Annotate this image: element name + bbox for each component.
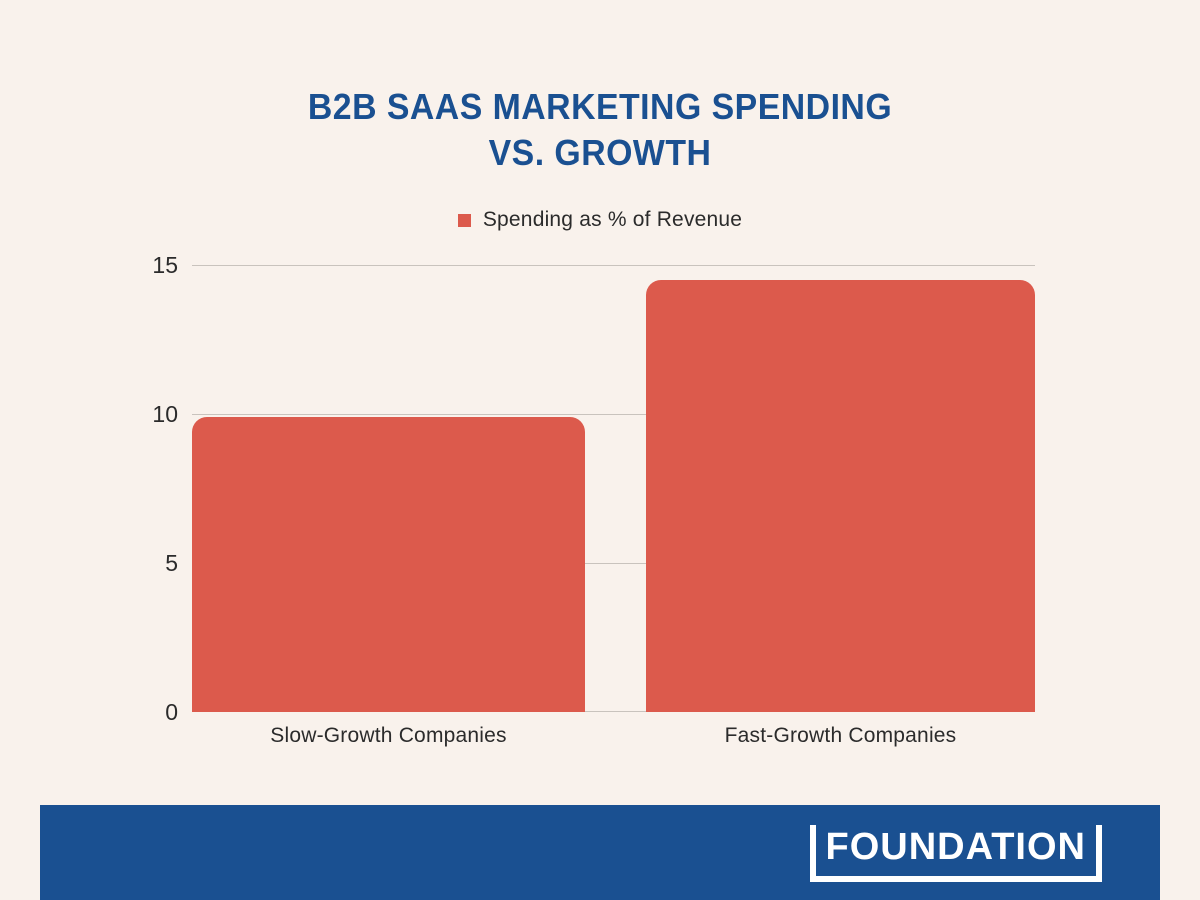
y-axis-tick-10: 10 (58, 401, 178, 428)
y-axis-tick-0: 0 (58, 699, 178, 726)
bar-slow-growth-companies[interactable] (192, 417, 585, 712)
bar-fast-growth-companies[interactable] (646, 280, 1035, 712)
y-axis-tick-15: 15 (58, 252, 178, 279)
chart-title-line-2: vs. Growth (36, 130, 1164, 176)
chart-title: B2B SaaS Marketing Spending vs. Growth (0, 84, 1200, 176)
x-axis-label-fast-growth: Fast-Growth Companies (646, 724, 1035, 748)
y-axis-tick-5: 5 (58, 550, 178, 577)
chart-title-line-1: B2B SaaS Marketing Spending (36, 84, 1164, 130)
chart-legend: Spending as % of Revenue (0, 208, 1200, 232)
plot-area (192, 265, 1035, 712)
foundation-logo[interactable]: FOUNDATION (810, 825, 1103, 882)
infographic-root: B2B SaaS Marketing Spending vs. Growth S… (0, 0, 1200, 900)
x-axis-label-slow-growth: Slow-Growth Companies (192, 724, 585, 748)
bar-series-spending (192, 265, 1035, 712)
legend-item-label: Spending as % of Revenue (483, 208, 742, 232)
footer-bar: FOUNDATION (40, 805, 1160, 900)
legend-swatch-icon (458, 214, 471, 227)
